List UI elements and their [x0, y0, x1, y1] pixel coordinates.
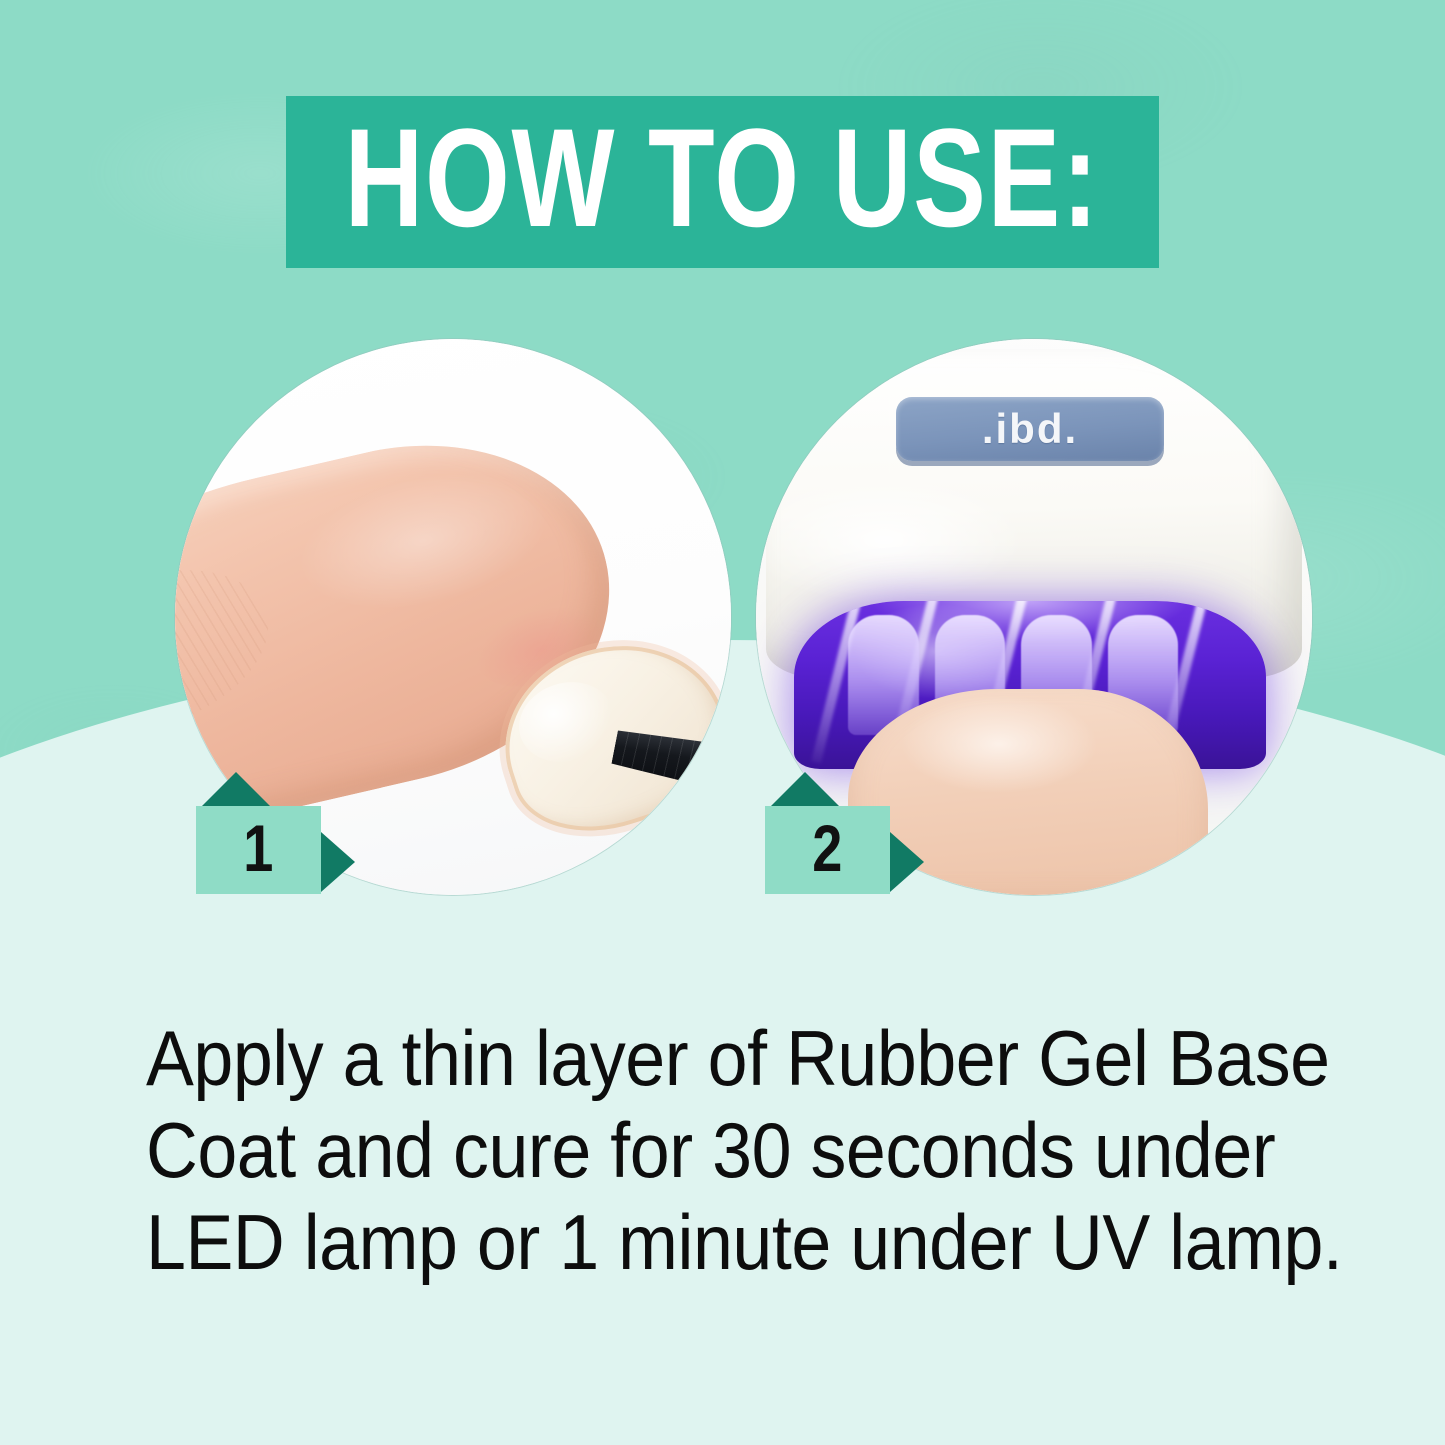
ibd-logo-plate: .ibd.: [896, 397, 1164, 461]
badge-box: 1: [196, 806, 321, 894]
step-number: 1: [243, 815, 273, 881]
badge-corner-top-left-icon: [771, 772, 839, 806]
badge-box: 2: [765, 806, 890, 894]
how-to-use-poster: HOW TO USE: .ibd.: [0, 0, 1445, 1445]
instruction-line-3: LED lamp or 1 minute under UV lamp.: [146, 1196, 1232, 1288]
skin-texture: [175, 540, 290, 763]
badge-corner-top-left-icon: [202, 772, 270, 806]
header-banner: HOW TO USE:: [286, 96, 1159, 268]
badge-corner-bottom-right-icon: [890, 832, 924, 892]
instruction-line-2: Coat and cure for 30 seconds under: [146, 1104, 1232, 1196]
ibd-brand-logo: .ibd.: [982, 405, 1078, 453]
instruction-line-1: Apply a thin layer of Rubber Gel Base: [146, 1012, 1232, 1104]
page-title: HOW TO USE:: [345, 108, 1100, 248]
badge-corner-bottom-right-icon: [321, 832, 355, 892]
step-number: 2: [812, 815, 842, 881]
step-2-number-badge: 2: [765, 806, 890, 894]
instruction-text: Apply a thin layer of Rubber Gel Base Co…: [146, 1012, 1326, 1288]
step-1-number-badge: 1: [196, 806, 321, 894]
